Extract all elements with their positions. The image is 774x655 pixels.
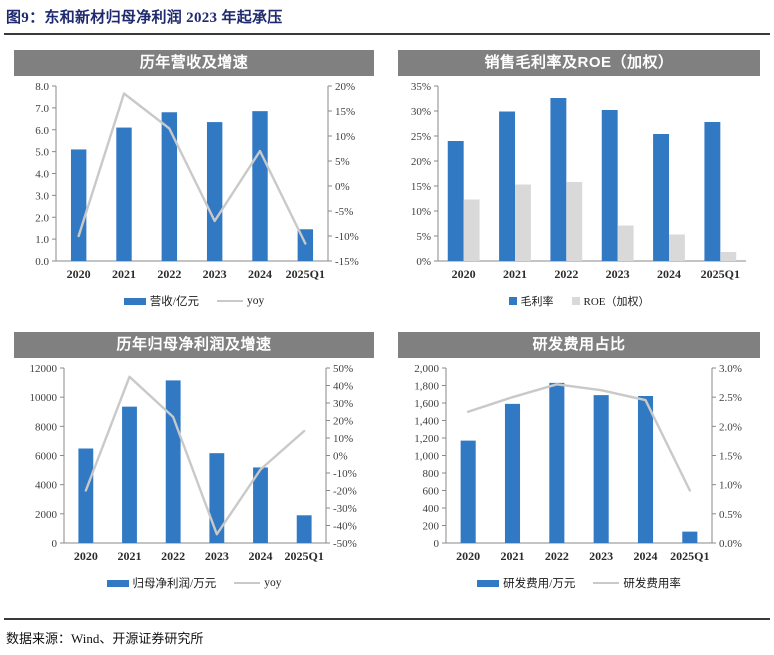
svg-text:-5%: -5% <box>335 206 353 218</box>
svg-text:35%: 35% <box>411 81 431 93</box>
svg-text:0: 0 <box>434 538 440 550</box>
svg-text:1,000: 1,000 <box>414 451 439 463</box>
svg-text:2021: 2021 <box>501 549 525 563</box>
svg-text:2023: 2023 <box>606 267 630 281</box>
legend-swatch-bar-icon <box>124 298 146 305</box>
legend-label: 研发费用/万元 <box>503 575 575 591</box>
svg-text:2024: 2024 <box>248 267 272 281</box>
svg-text:-20%: -20% <box>333 486 357 498</box>
title-divider <box>4 33 770 35</box>
svg-text:0.5%: 0.5% <box>719 509 742 521</box>
svg-text:-50%: -50% <box>333 538 357 550</box>
svg-text:5%: 5% <box>416 231 431 243</box>
legend-label: yoy <box>264 577 281 589</box>
svg-text:200: 200 <box>423 521 440 533</box>
svg-text:2020: 2020 <box>456 549 480 563</box>
svg-text:2020: 2020 <box>67 267 91 281</box>
svg-text:0: 0 <box>52 538 58 550</box>
svg-text:2022: 2022 <box>161 549 185 563</box>
svg-text:1.0%: 1.0% <box>719 480 742 492</box>
svg-text:800: 800 <box>423 468 440 480</box>
svg-text:30%: 30% <box>333 398 353 410</box>
svg-text:1.0: 1.0 <box>35 234 49 246</box>
svg-text:1.5%: 1.5% <box>719 451 742 463</box>
svg-text:10%: 10% <box>335 131 355 143</box>
svg-text:400: 400 <box>423 503 440 515</box>
page-title: 图9：东和新材归母净利润 2023 年起承压 <box>6 6 768 32</box>
chart-title-revenue: 历年营收及增速 <box>14 50 374 76</box>
svg-text:8.0: 8.0 <box>35 81 49 93</box>
legend-swatch-bar-icon <box>107 580 129 587</box>
source-note: 数据来源：Wind、开源证券研究所 <box>6 628 203 647</box>
legend-label: 营收/亿元 <box>150 293 199 309</box>
legend-label: 研发费用率 <box>623 575 681 591</box>
chart-legend-net-profit: 归母净利润/万元 yoy <box>14 575 374 591</box>
svg-text:2021: 2021 <box>118 549 142 563</box>
svg-text:40%: 40% <box>333 381 353 393</box>
svg-text:2020: 2020 <box>452 267 476 281</box>
chart-legend-revenue: 营收/亿元 yoy <box>14 293 374 309</box>
svg-text:4000: 4000 <box>35 480 58 492</box>
legend-item-net-profit-bar: 归母净利润/万元 <box>107 575 217 591</box>
legend-item-rnd-line: 研发费用率 <box>593 575 681 591</box>
svg-text:1,400: 1,400 <box>414 416 439 428</box>
legend-swatch-bar-icon <box>477 580 499 587</box>
svg-text:0.0: 0.0 <box>35 256 49 268</box>
svg-text:2023: 2023 <box>589 549 613 563</box>
legend-swatch-line-icon <box>217 300 243 302</box>
svg-text:2022: 2022 <box>554 267 578 281</box>
legend-item-revenue-bar: 营收/亿元 <box>124 293 199 309</box>
svg-text:2.5%: 2.5% <box>719 392 742 404</box>
svg-text:-40%: -40% <box>333 521 357 533</box>
legend-item-net-profit-line: yoy <box>234 577 281 589</box>
svg-text:2024: 2024 <box>249 549 273 563</box>
svg-text:1,600: 1,600 <box>414 398 439 410</box>
svg-text:2.0: 2.0 <box>35 212 49 224</box>
svg-text:6.0: 6.0 <box>35 125 49 137</box>
chart-panel-net-profit: 历年归母净利润及增速 020004000600080001000012000-5… <box>14 332 374 591</box>
legend-item-revenue-line: yoy <box>217 295 264 307</box>
chart-panel-rnd: 研发费用占比 02004006008001,0001,2001,4001,600… <box>398 332 760 591</box>
chart-plot-revenue: 0.01.02.03.04.05.06.07.08.0-15%-10%-5%0%… <box>14 76 374 291</box>
legend-label: 毛利率 <box>521 293 554 309</box>
svg-text:2025Q1: 2025Q1 <box>286 267 325 281</box>
legend-swatch-line-icon <box>234 582 260 584</box>
svg-text:12000: 12000 <box>30 363 58 375</box>
legend-item-roe: ROE（加权） <box>572 293 650 309</box>
svg-text:2025Q1: 2025Q1 <box>701 267 740 281</box>
svg-text:20%: 20% <box>335 81 355 93</box>
chart-plot-rnd: 02004006008001,0001,2001,4001,6001,8002,… <box>398 358 760 573</box>
svg-text:2022: 2022 <box>545 549 569 563</box>
svg-text:25%: 25% <box>411 131 431 143</box>
svg-text:0%: 0% <box>335 181 350 193</box>
svg-text:20%: 20% <box>333 416 353 428</box>
svg-text:2,000: 2,000 <box>414 363 439 375</box>
svg-text:2.0%: 2.0% <box>719 421 742 433</box>
chart-legend-margin-roe: 毛利率 ROE（加权） <box>398 293 760 309</box>
svg-text:600: 600 <box>423 486 440 498</box>
svg-text:15%: 15% <box>411 181 431 193</box>
svg-text:50%: 50% <box>333 363 353 375</box>
svg-text:1,200: 1,200 <box>414 433 439 445</box>
chart-legend-rnd: 研发费用/万元 研发费用率 <box>398 575 760 591</box>
svg-text:2000: 2000 <box>35 509 58 521</box>
svg-text:2025Q1: 2025Q1 <box>670 549 709 563</box>
svg-text:1,800: 1,800 <box>414 381 439 393</box>
legend-item-gross-margin: 毛利率 <box>509 293 554 309</box>
chart-title-net-profit: 历年归母净利润及增速 <box>14 332 374 358</box>
chart-svg-revenue: 0.01.02.03.04.05.06.07.08.0-15%-10%-5%0%… <box>14 76 374 291</box>
svg-text:6000: 6000 <box>35 451 58 463</box>
legend-swatch-blue-icon <box>509 297 517 305</box>
svg-text:2023: 2023 <box>203 267 227 281</box>
chart-title-rnd: 研发费用占比 <box>398 332 760 358</box>
svg-text:3.0%: 3.0% <box>719 363 742 375</box>
svg-text:30%: 30% <box>411 106 431 118</box>
legend-swatch-line-icon <box>593 582 619 584</box>
chart-svg-rnd: 02004006008001,0001,2001,4001,6001,8002,… <box>398 358 760 573</box>
svg-text:2021: 2021 <box>503 267 527 281</box>
svg-text:7.0: 7.0 <box>35 103 49 115</box>
svg-text:2020: 2020 <box>74 549 98 563</box>
svg-text:-15%: -15% <box>335 256 359 268</box>
legend-label: ROE（加权） <box>584 293 650 309</box>
chart-panel-revenue: 历年营收及增速 0.01.02.03.04.05.06.07.08.0-15%-… <box>14 50 374 309</box>
svg-text:20%: 20% <box>411 156 431 168</box>
svg-text:10000: 10000 <box>30 392 58 404</box>
svg-text:10%: 10% <box>411 206 431 218</box>
legend-item-rnd-bar: 研发费用/万元 <box>477 575 575 591</box>
chart-svg-net-profit: 020004000600080001000012000-50%-40%-30%-… <box>14 358 374 573</box>
svg-text:3.0: 3.0 <box>35 190 49 202</box>
chart-svg-margin-roe: 0%5%10%15%20%25%30%35%202020212022202320… <box>398 76 760 291</box>
svg-text:15%: 15% <box>335 106 355 118</box>
svg-text:2025Q1: 2025Q1 <box>284 549 323 563</box>
svg-text:2024: 2024 <box>634 549 658 563</box>
svg-text:4.0: 4.0 <box>35 169 49 181</box>
figure-page: 图9：东和新材归母净利润 2023 年起承压 历年营收及增速 0.01.02.0… <box>0 0 774 655</box>
svg-text:5.0: 5.0 <box>35 147 49 159</box>
svg-text:5%: 5% <box>335 156 350 168</box>
svg-text:8000: 8000 <box>35 421 58 433</box>
chart-title-margin-roe: 销售毛利率及ROE（加权） <box>398 50 760 76</box>
svg-text:0%: 0% <box>416 256 431 268</box>
svg-text:-30%: -30% <box>333 503 357 515</box>
svg-text:2021: 2021 <box>112 267 136 281</box>
chart-plot-net-profit: 020004000600080001000012000-50%-40%-30%-… <box>14 358 374 573</box>
svg-text:2024: 2024 <box>657 267 681 281</box>
svg-text:-10%: -10% <box>335 231 359 243</box>
legend-swatch-grey-icon <box>572 297 580 305</box>
svg-text:0.0%: 0.0% <box>719 538 742 550</box>
legend-label: 归母净利润/万元 <box>133 575 217 591</box>
svg-text:0%: 0% <box>333 451 348 463</box>
svg-text:2023: 2023 <box>205 549 229 563</box>
chart-panel-margin-roe: 销售毛利率及ROE（加权） 0%5%10%15%20%25%30%35%2020… <box>398 50 760 309</box>
svg-text:2022: 2022 <box>157 267 181 281</box>
svg-text:-10%: -10% <box>333 468 357 480</box>
footer-divider <box>4 618 770 620</box>
chart-plot-margin-roe: 0%5%10%15%20%25%30%35%202020212022202320… <box>398 76 760 291</box>
legend-label: yoy <box>247 295 264 307</box>
svg-text:10%: 10% <box>333 433 353 445</box>
